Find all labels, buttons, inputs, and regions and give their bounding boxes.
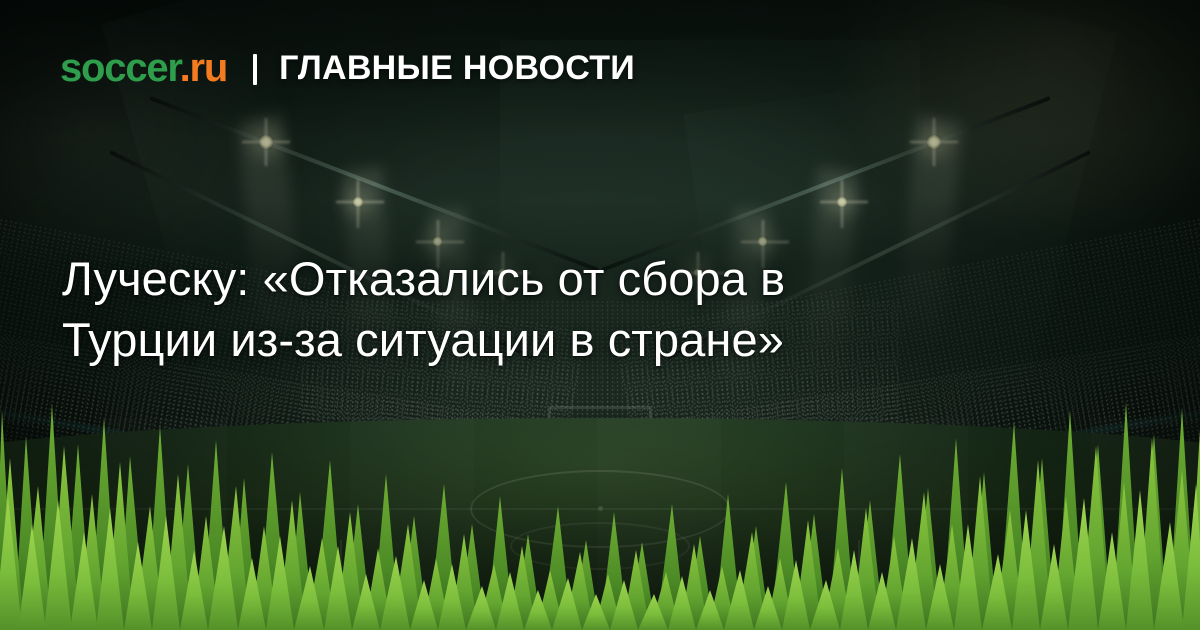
header-kicker: ГЛАВНЫЕ НОВОСТИ <box>279 51 635 85</box>
logo-wordmark: soccer <box>60 46 180 90</box>
foreground-grass <box>0 400 1200 630</box>
grass-blades-svg <box>0 400 1200 630</box>
headline-line-2: Турции из-за ситуации в стране» <box>62 309 1042 370</box>
logo-tld: .ru <box>180 46 228 90</box>
card-header: soccer.ru ГЛАВНЫЕ НОВОСТИ <box>60 48 635 88</box>
header-separator <box>253 54 257 85</box>
headline-line-1: Луческу: «Отказались от сбора в <box>62 248 1042 309</box>
site-logo[interactable]: soccer.ru <box>60 48 227 88</box>
page-title: Луческу: «Отказались от сбора в Турции и… <box>62 248 1042 370</box>
news-share-card: soccer.ru ГЛАВНЫЕ НОВОСТИ Луческу: «Отка… <box>0 0 1200 630</box>
